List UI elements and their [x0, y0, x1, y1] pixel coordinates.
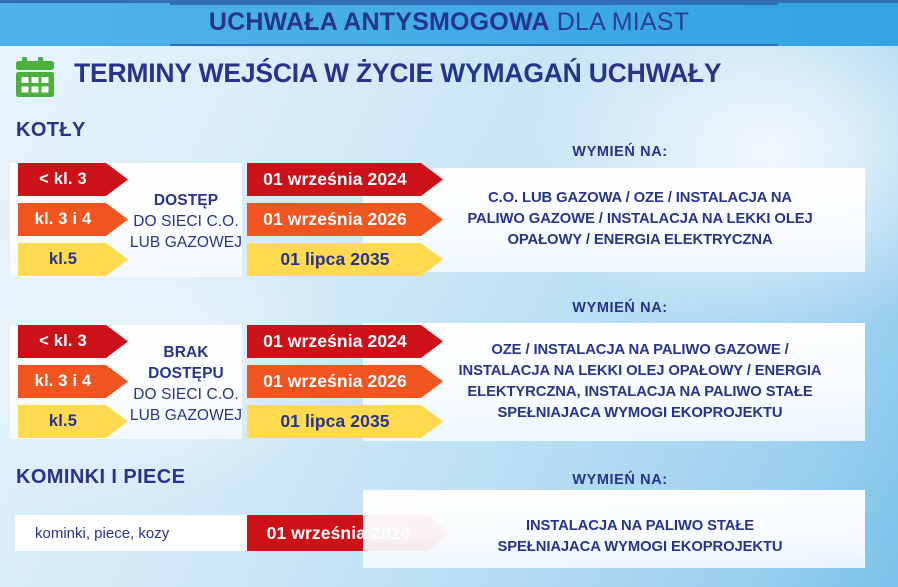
- replace-line-a1: C.O. LUB GAZOWA / OZE / INSTALACJA NA: [488, 190, 792, 206]
- replace-line-b2: INSTALACJA NA LEKKI OLEJ OPAŁOWY / ENERG…: [458, 363, 821, 379]
- access-label-noaccess: BRAK DOSTĘPU DO SIECI C.O. LUB GAZOWEJ: [126, 342, 246, 426]
- replace-line-a2: PALIWO GAZOWE / INSTALACJA NA LEKKI OLEJ: [467, 211, 812, 227]
- page-title: TERMINY WEJŚCIA W ŻYCIE WYMAGAŃ UCHWAŁY: [74, 58, 884, 89]
- access-line2-a: LUB GAZOWEJ: [130, 234, 242, 251]
- date-chip-2035-a[interactable]: 01 lipca 2035: [247, 243, 443, 276]
- banner-title-light: DLA MIAST: [550, 8, 690, 36]
- top-banner: UCHWAŁA ANTYSMOGOWA DLA MIAST: [0, 0, 898, 46]
- date-chip-2035-b[interactable]: 01 lipca 2035: [247, 405, 443, 438]
- date-chip-2024-a[interactable]: 01 września 2024: [247, 163, 443, 196]
- class-chip-5-b[interactable]: kl.5: [18, 405, 128, 438]
- banner-title-bold: UCHWAŁA ANTYSMOGOWA: [209, 8, 550, 36]
- access-label-boilers: DOSTĘP DO SIECI C.O. LUB GAZOWEJ: [126, 190, 246, 253]
- replace-line-b4: SPEŁNIAJACA WYMOGI EKOPROJEKTU: [497, 405, 782, 421]
- replace-line-b1: OZE / INSTALACJA NA PALIWO GAZOWE /: [491, 342, 788, 358]
- date-chip-2024-b[interactable]: 01 września 2024: [247, 325, 443, 358]
- replace-line-c2: SPEŁNIAJACA WYMOGI EKOPROJEKTU: [497, 539, 782, 555]
- date-chip-2026-b[interactable]: 01 września 2026: [247, 365, 443, 398]
- replace-body-c: INSTALACJA NA PALIWO STAŁE SPEŁNIAJACA W…: [440, 516, 840, 558]
- replace-body-b: OZE / INSTALACJA NA PALIWO GAZOWE / INST…: [440, 340, 840, 424]
- replace-line-b3: ELEKTYRCZNA, INSTALACJA NA PALIWO STAŁE: [467, 384, 812, 400]
- access-strong-b: BRAK DOSTĘPU: [148, 344, 224, 382]
- class-chip-below-3-a[interactable]: < kl. 3: [18, 163, 128, 196]
- infographic-page: UCHWAŁA ANTYSMOGOWA DLA MIAST TERMINY WE…: [0, 0, 898, 587]
- replace-line-a3: OPAŁOWY / ENERGIA ELEKTRYCZNA: [507, 232, 772, 248]
- date-chip-2026-a[interactable]: 01 września 2026: [247, 203, 443, 236]
- section-title-fireplaces: KOMINKI I PIECE: [16, 466, 185, 489]
- access-line2-b: LUB GAZOWEJ: [130, 407, 242, 424]
- replace-header-c: WYMIEŃ NA:: [460, 472, 780, 488]
- class-chip-3-4-a[interactable]: kl. 3 i 4: [18, 203, 128, 236]
- replace-header-a: WYMIEŃ NA:: [460, 144, 780, 160]
- access-strong-a: DOSTĘP: [154, 192, 218, 209]
- fireplace-item-label: kominki, piece, kozy: [15, 515, 247, 551]
- replace-line-c1: INSTALACJA NA PALIWO STAŁE: [526, 518, 754, 534]
- class-chip-below-3-b[interactable]: < kl. 3: [18, 325, 128, 358]
- class-chip-5-a[interactable]: kl.5: [18, 243, 128, 276]
- section-title-boilers: KOTŁY: [16, 119, 86, 142]
- replace-body-a: C.O. LUB GAZOWA / OZE / INSTALACJA NA PA…: [440, 188, 840, 251]
- banner-title: UCHWAŁA ANTYSMOGOWA DLA MIAST: [0, 8, 898, 37]
- class-chip-3-4-b[interactable]: kl. 3 i 4: [18, 365, 128, 398]
- replace-header-b: WYMIEŃ NA:: [460, 300, 780, 316]
- calendar-icon: [12, 54, 58, 100]
- access-line1-b: DO SIECI C.O.: [133, 386, 239, 403]
- access-line1-a: DO SIECI C.O.: [133, 213, 239, 230]
